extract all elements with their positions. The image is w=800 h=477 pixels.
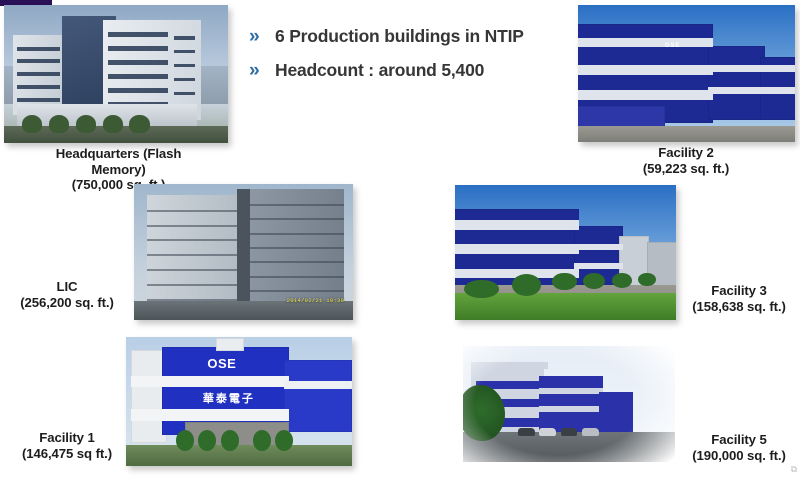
- facility-1-area: (146,475 sq ft.): [6, 446, 128, 462]
- facade-stripe: [284, 381, 352, 389]
- building-corner-spine: [237, 189, 250, 309]
- facade-stripe: [131, 376, 289, 388]
- slide-canvas: ›› 6 Production buildings in NTIP ›› Hea…: [0, 0, 800, 477]
- car: [539, 428, 556, 436]
- roof-parapet: [471, 362, 547, 369]
- bullet-text: 6 Production buildings in NTIP: [275, 26, 524, 47]
- shrub: [583, 273, 605, 289]
- facility-5-area: (190,000 sq. ft.): [680, 448, 798, 464]
- facility-1-photo: OSE 華泰電子: [126, 337, 352, 466]
- facade-stripe: [131, 409, 289, 421]
- headquarters-name-line1: Headquarters (Flash: [36, 146, 201, 162]
- bullet-text: Headcount : around 5,400: [275, 60, 484, 81]
- shrub: [552, 273, 576, 291]
- facade-stripe: [539, 406, 603, 412]
- building-right-wing: [284, 360, 352, 432]
- building-left-wing: [13, 35, 65, 115]
- photo-ground: [126, 445, 352, 466]
- lic-name: LIC: [4, 279, 130, 295]
- facility-5-name: Facility 5: [680, 432, 798, 448]
- building-mid-block: [708, 46, 764, 120]
- tree: [49, 115, 69, 133]
- photo-ground: [578, 126, 795, 142]
- shrub: [612, 273, 632, 288]
- car: [582, 428, 599, 436]
- facility-1-caption: Facility 1 (146,475 sq ft.): [6, 430, 128, 461]
- rooftop-structure: [216, 338, 243, 351]
- headquarters-photo: [4, 5, 228, 143]
- facade-stripe: [455, 220, 579, 229]
- facade-stripe: [578, 38, 713, 48]
- facade-stripe: [708, 87, 795, 94]
- building-center-block: [539, 376, 603, 432]
- lic-caption: LIC (256,200 sq. ft.): [4, 279, 130, 310]
- facility-3-name: Facility 3: [680, 283, 798, 299]
- shrub: [176, 430, 194, 451]
- lic-area: (256,200 sq. ft.): [4, 295, 130, 311]
- shrub: [221, 430, 239, 451]
- facility-5-photo: [455, 340, 683, 468]
- facility-5-caption: Facility 5 (190,000 sq. ft.): [680, 432, 798, 463]
- building-right-facade: [244, 189, 345, 309]
- car: [518, 428, 535, 436]
- facade-stripe: [574, 263, 623, 268]
- headquarters-name-line2: Memory): [36, 162, 201, 178]
- bullet-item: ›› Headcount : around 5,400: [249, 60, 579, 81]
- facade-stripe: [578, 90, 713, 100]
- facility-2-photo: OSE: [578, 5, 795, 142]
- building-rear-block: [599, 392, 633, 431]
- shrub: [512, 274, 541, 296]
- facade-stripe: [574, 244, 623, 249]
- facility-3-area: (158,638 sq. ft.): [680, 299, 798, 315]
- building-left-facade: [147, 195, 248, 309]
- shrub: [275, 430, 293, 451]
- shrub: [253, 430, 271, 451]
- facility-3-photo: [455, 185, 676, 320]
- building-sign-ose: OSE: [665, 43, 681, 49]
- facade-stripe: [578, 65, 713, 75]
- facade-stripe: [455, 244, 579, 253]
- shrub: [198, 430, 216, 451]
- tree: [22, 115, 42, 133]
- corner-glyph-icon: ⧉: [791, 465, 797, 474]
- facility-5-photo-inner: [463, 346, 675, 462]
- facade-stripe: [539, 388, 603, 394]
- building-sign-ose: OSE: [207, 356, 236, 371]
- bullet-list: ›› 6 Production buildings in NTIP ›› Hea…: [249, 26, 579, 94]
- facility-2-area: (59,223 sq. ft.): [606, 161, 766, 177]
- facility-2-name: Facility 2: [606, 145, 766, 161]
- tree: [103, 115, 123, 133]
- facade-stripe: [708, 65, 795, 72]
- facility-1-name: Facility 1: [6, 430, 128, 446]
- bullet-item: ›› 6 Production buildings in NTIP: [249, 26, 579, 47]
- photo-timestamp: 2014/02/21 10:39: [287, 297, 345, 304]
- tree: [76, 115, 96, 133]
- lic-photo: 2014/02/21 10:39: [134, 184, 353, 320]
- car: [561, 428, 578, 436]
- double-chevron-right-icon: ››: [249, 61, 275, 80]
- facility-2-caption: Facility 2 (59,223 sq. ft.): [606, 145, 766, 176]
- building-sign-chinese: 華泰電子: [203, 390, 255, 406]
- tree: [129, 115, 149, 133]
- facility-3-caption: Facility 3 (158,638 sq. ft.): [680, 283, 798, 314]
- double-chevron-right-icon: ››: [249, 27, 275, 46]
